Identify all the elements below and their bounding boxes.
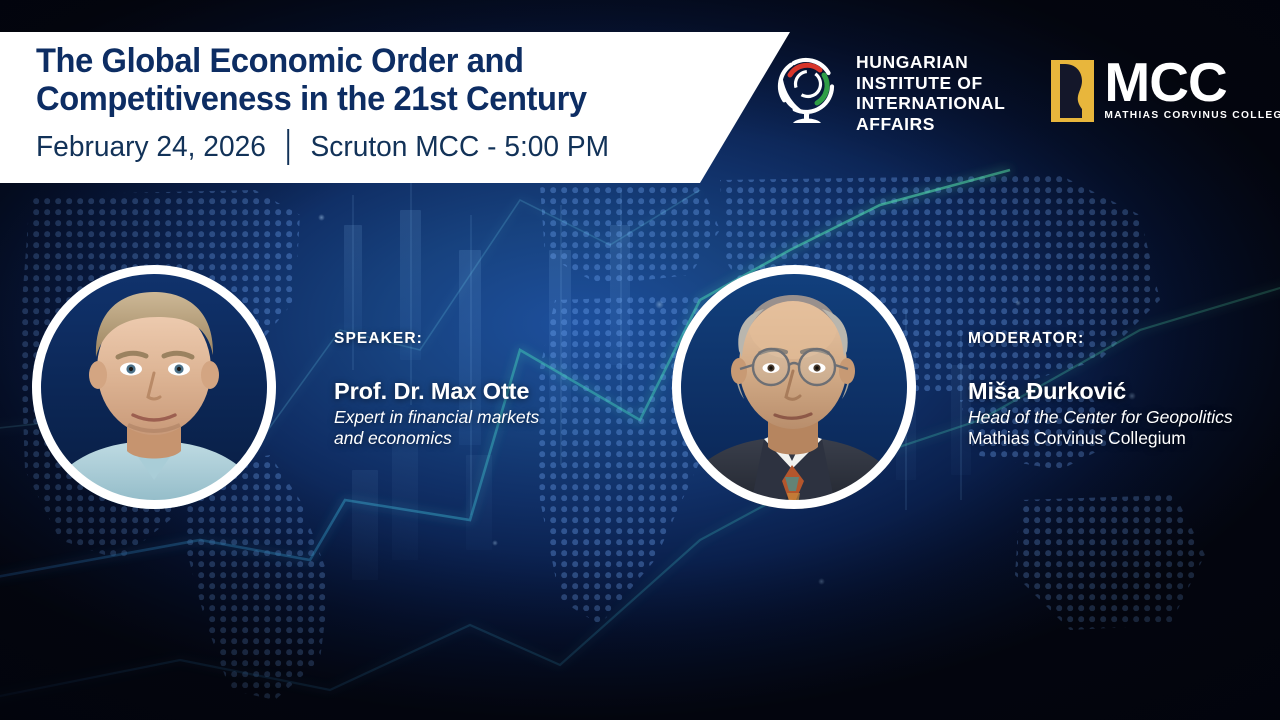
- speaker-photo: [32, 265, 276, 509]
- hiia-text-line-1: HUNGARIAN: [856, 52, 1005, 73]
- event-details: February 24, 2026 Scruton MCC - 5:00 PM: [36, 129, 767, 165]
- logo-group: HUNGARIAN INSTITUTE OF INTERNATIONAL AFF…: [770, 52, 1280, 134]
- event-date: February 24, 2026: [36, 131, 266, 163]
- speaker-role-line-1: Expert in financial markets: [334, 407, 604, 428]
- hiia-text-line-2: INSTITUTE OF: [856, 73, 1005, 94]
- mcc-logo: MCC MATHIAS CORVINUS COLLEGIUM 30 1996: [1051, 52, 1280, 123]
- moderator-photo: [672, 265, 916, 509]
- moderator-name: Miša Đurković: [968, 378, 1268, 405]
- moderator-role: Head of the Center for Geopolitics: [968, 407, 1268, 428]
- page-title-line-2: Competitiveness in the 21st Century: [36, 80, 760, 118]
- divider: [287, 129, 289, 165]
- hiia-text-line-4: AFFAIRS: [856, 114, 1005, 135]
- moderator-info: MODERATOR: Miša Đurković Head of the Cen…: [968, 330, 1268, 449]
- moderator-portrait: [672, 265, 916, 509]
- event-venue-time: Scruton MCC - 5:00 PM: [310, 131, 609, 163]
- speaker-label: SPEAKER:: [334, 330, 604, 348]
- speaker-info: SPEAKER: Prof. Dr. Max Otte Expert in fi…: [334, 330, 604, 449]
- hiia-logo: HUNGARIAN INSTITUTE OF INTERNATIONAL AFF…: [770, 52, 1005, 134]
- page-title-line-1: The Global Economic Order and: [36, 42, 760, 80]
- hiia-logo-text: HUNGARIAN INSTITUTE OF INTERNATIONAL AFF…: [856, 52, 1005, 134]
- event-poster: The Global Economic Order and Competitiv…: [0, 0, 1280, 720]
- moderator-organization: Mathias Corvinus Collegium: [968, 428, 1268, 449]
- speaker-role-line-2: and economics: [334, 428, 604, 449]
- speaker-portrait: [32, 265, 276, 509]
- hiia-text-line-3: INTERNATIONAL: [856, 93, 1005, 114]
- hiia-globe-icon: [770, 53, 842, 133]
- mcc-wordmark: MCC MATHIAS CORVINUS COLLEGIUM: [1051, 60, 1280, 122]
- corvinus-profile-icon: [1051, 60, 1094, 122]
- moderator-label: MODERATOR:: [968, 330, 1268, 348]
- mcc-acronym: MCC: [1104, 58, 1280, 106]
- title-banner: The Global Economic Order and Competitiv…: [0, 32, 790, 183]
- mcc-full-name: MATHIAS CORVINUS COLLEGIUM: [1104, 110, 1280, 121]
- speaker-name: Prof. Dr. Max Otte: [334, 378, 604, 405]
